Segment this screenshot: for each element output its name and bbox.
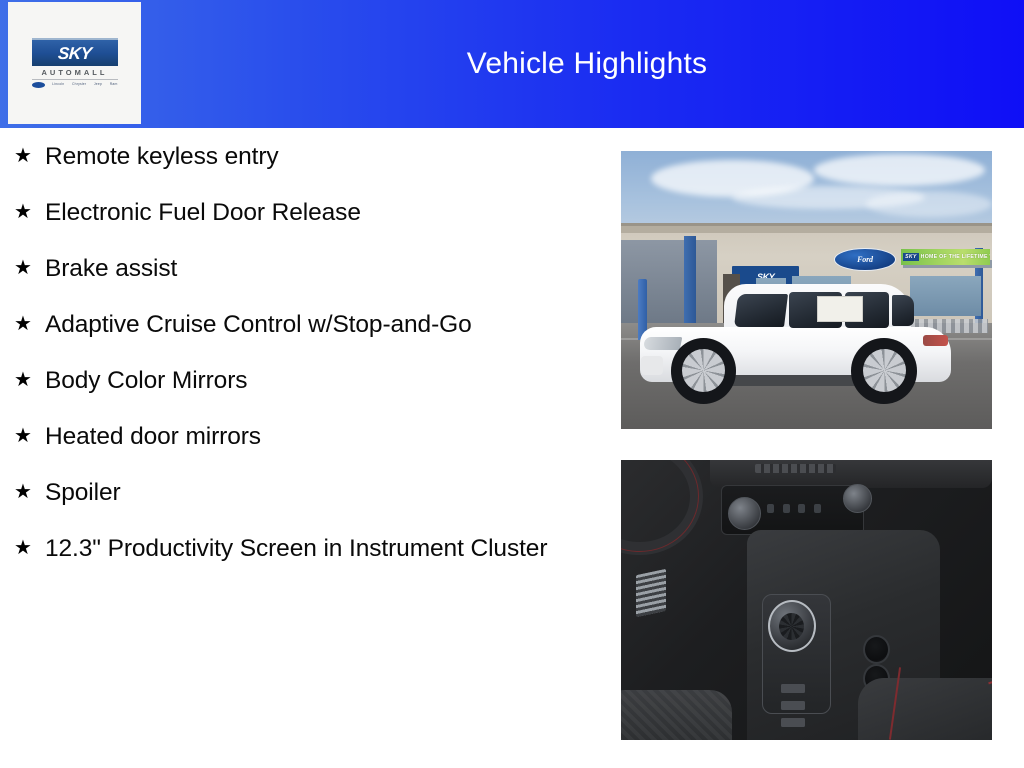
suv-taillight — [923, 335, 948, 346]
list-item: ★ Adaptive Cruise Control w/Stop-and-Go — [0, 308, 600, 342]
suv-window — [734, 294, 788, 327]
feature-label: Heated door mirrors — [45, 420, 261, 454]
feature-label: Brake assist — [45, 252, 177, 286]
list-item: ★ Spoiler — [0, 476, 600, 510]
rotary-gear-shifter[interactable] — [768, 600, 816, 652]
window-sticker — [817, 296, 863, 322]
climate-button[interactable] — [767, 504, 774, 513]
cloud-shape — [866, 191, 992, 217]
logo-brand-text: SKY — [57, 45, 92, 62]
console-button[interactable] — [781, 718, 805, 727]
star-bullet-icon: ★ — [14, 420, 45, 452]
climate-knob-right[interactable] — [843, 484, 872, 513]
star-bullet-icon: ★ — [14, 308, 45, 340]
driver-seat — [621, 690, 732, 740]
suv-rear-wheel — [851, 338, 916, 403]
feature-label: Body Color Mirrors — [45, 364, 247, 398]
list-item: ★ Brake assist — [0, 252, 600, 286]
climate-knob-left[interactable] — [728, 497, 761, 530]
feature-label: Electronic Fuel Door Release — [45, 196, 361, 230]
suv-front-wheel — [671, 338, 736, 403]
star-bullet-icon: ★ — [14, 140, 45, 172]
cloud-shape — [814, 154, 985, 186]
list-item: ★ Electronic Fuel Door Release — [0, 196, 600, 230]
list-item: ★ 12.3" Productivity Screen in Instrumen… — [0, 532, 600, 566]
console-button[interactable] — [781, 701, 805, 710]
vehicle-exterior-photo[interactable]: SKY Ford SKY HOME OF THE LIFETIME WARRAN… — [621, 151, 992, 429]
cupholder — [863, 635, 890, 664]
page-header: SKY AUTOMALL Lincoln Chrysler Jeep Ram V… — [0, 0, 1024, 128]
list-item: ★ Heated door mirrors — [0, 420, 600, 454]
suv-front-fascia — [641, 356, 663, 375]
climate-button[interactable] — [814, 504, 821, 513]
climate-control-panel[interactable] — [721, 485, 864, 535]
brand-chip-ram: Ram — [110, 83, 118, 86]
list-item: ★ Remote keyless entry — [0, 140, 600, 174]
logo-subtitle: AUTOMALL — [32, 69, 118, 80]
list-item: ★ Body Color Mirrors — [0, 364, 600, 398]
logo-inner: SKY AUTOMALL Lincoln Chrysler Jeep Ram — [27, 38, 123, 88]
suv-headlight — [643, 337, 683, 350]
white-suv — [640, 282, 952, 402]
brand-chip-lincoln: Lincoln — [52, 83, 64, 86]
climate-button[interactable] — [783, 504, 790, 513]
star-bullet-icon: ★ — [14, 532, 45, 564]
feature-label: Adaptive Cruise Control w/Stop-and-Go — [45, 308, 472, 342]
feature-label: Remote keyless entry — [45, 140, 279, 174]
roofline — [621, 226, 992, 233]
climate-button[interactable] — [798, 504, 805, 513]
ford-sign-text: Ford — [857, 255, 873, 264]
star-bullet-icon: ★ — [14, 476, 45, 508]
passenger-seat — [858, 678, 992, 740]
brand-chip-chrysler: Chrysler — [72, 83, 86, 86]
content-area: ★ Remote keyless entry ★ Electronic Fuel… — [0, 128, 1024, 768]
star-bullet-icon: ★ — [14, 364, 45, 396]
star-bullet-icon: ★ — [14, 196, 45, 228]
defroster-vent — [755, 464, 837, 472]
logo-banner: SKY — [32, 38, 118, 66]
vehicle-highlights-list: ★ Remote keyless entry ★ Electronic Fuel… — [0, 140, 600, 588]
ford-oval-sign-icon: Ford — [834, 248, 895, 271]
console-button[interactable] — [781, 684, 805, 693]
dead-pedal — [636, 569, 666, 617]
vehicle-interior-photo[interactable] — [621, 460, 992, 740]
dashboard-top — [710, 460, 992, 488]
dealer-logo[interactable]: SKY AUTOMALL Lincoln Chrysler Jeep Ram — [8, 2, 141, 124]
feature-label: 12.3" Productivity Screen in Instrument … — [45, 532, 547, 566]
page-title: Vehicle Highlights — [150, 0, 1024, 128]
feature-label: Spoiler — [45, 476, 121, 510]
warranty-banner-chip: SKY — [903, 253, 919, 261]
logo-brand-strip: Lincoln Chrysler Jeep Ram — [32, 82, 118, 88]
ford-oval-icon — [32, 82, 45, 88]
brand-chip-jeep: Jeep — [94, 83, 102, 86]
suv-window — [892, 295, 914, 326]
star-bullet-icon: ★ — [14, 252, 45, 284]
warranty-banner: SKY HOME OF THE LIFETIME WARRANTY — [901, 249, 990, 265]
warranty-banner-text: HOME OF THE LIFETIME WARRANTY — [921, 254, 990, 260]
